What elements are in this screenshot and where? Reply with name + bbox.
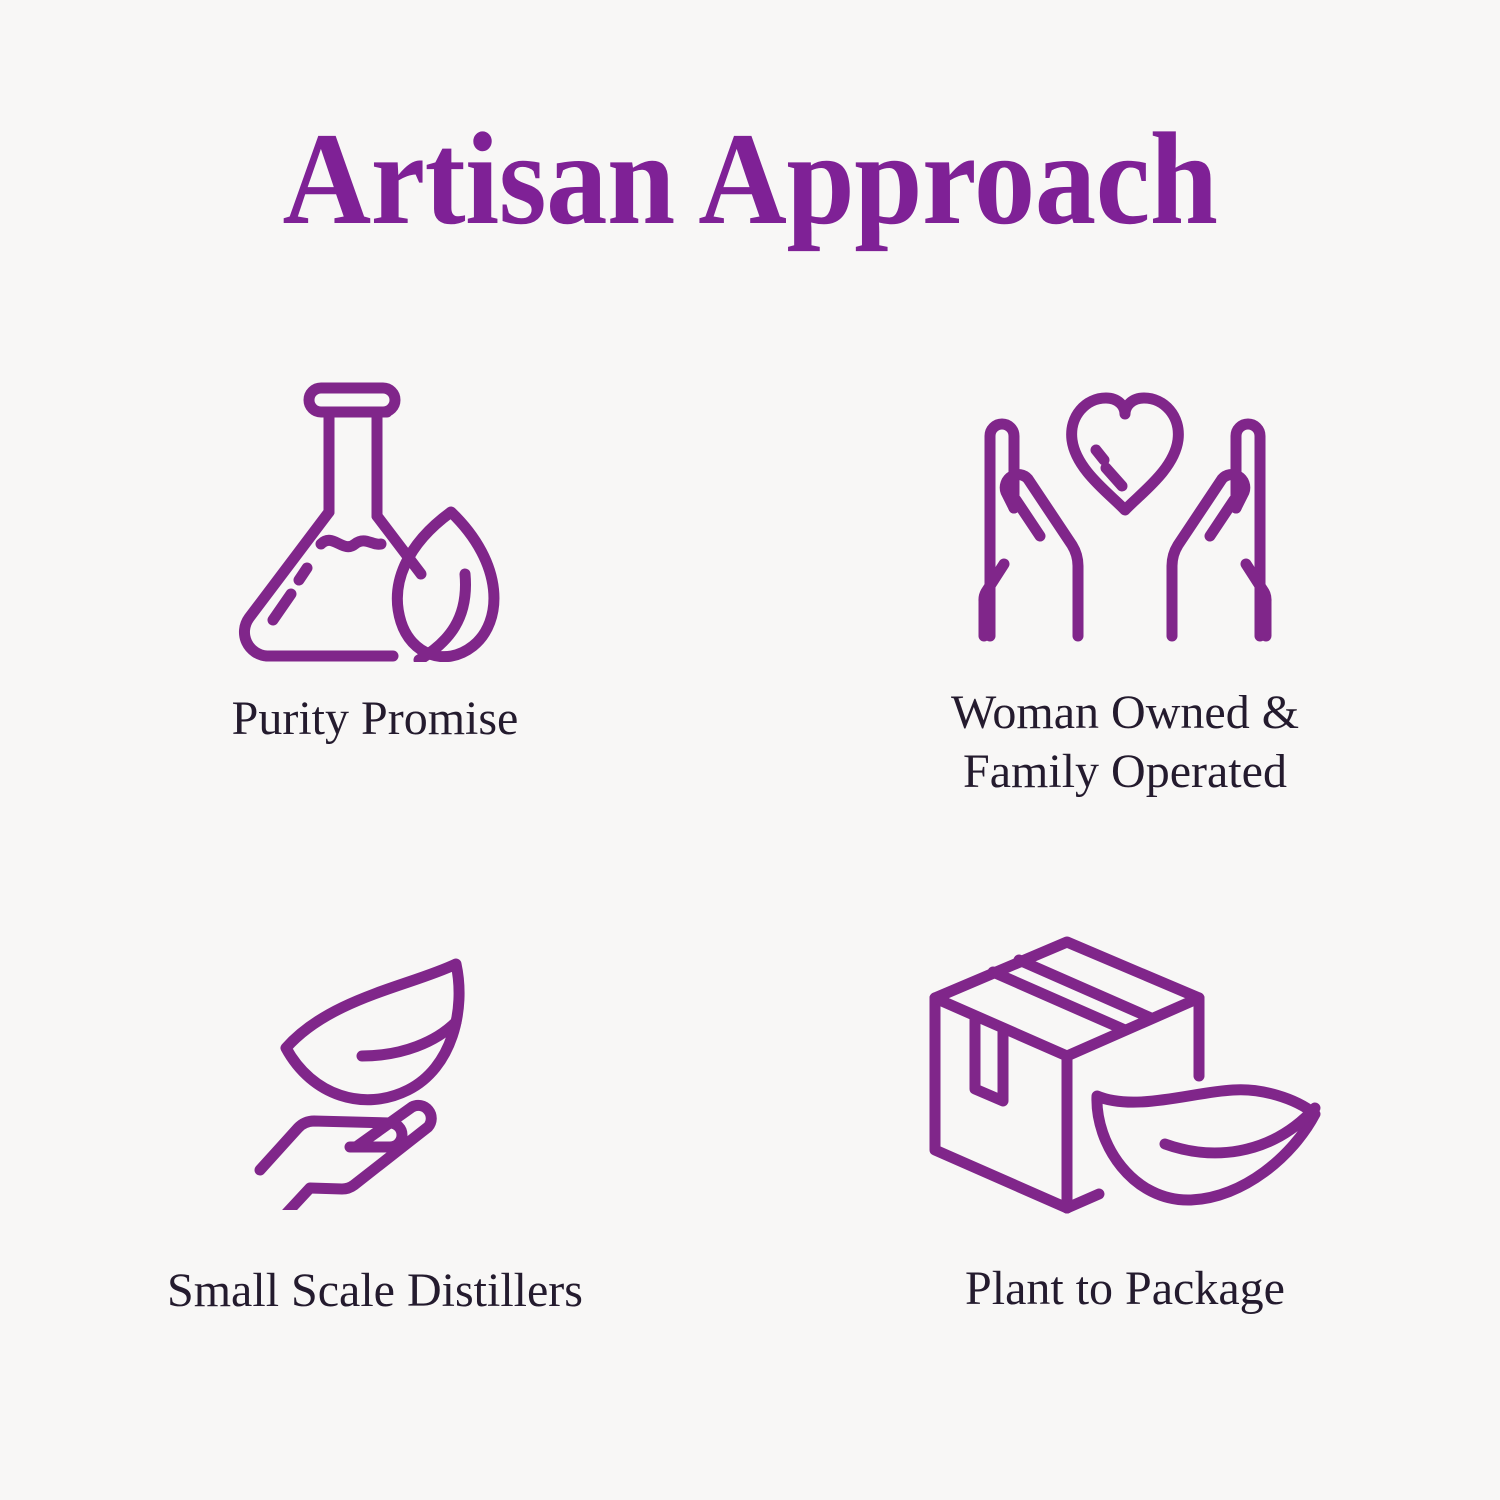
box-leaf-icon — [915, 930, 1335, 1220]
feature-item-purity-promise: Purity Promise — [0, 352, 750, 882]
feature-item-plant-to-package: Plant to Package — [750, 882, 1500, 1412]
leaf-in-hand-icon — [250, 940, 500, 1210]
feature-label: Woman Owned & Family Operated — [951, 684, 1299, 801]
feature-item-woman-owned: Woman Owned & Family Operated — [750, 352, 1500, 882]
page-title-wrap: Artisan Approach — [0, 108, 1500, 251]
feature-grid: Purity Promise — [0, 352, 1500, 1412]
feature-label: Plant to Package — [965, 1260, 1285, 1319]
feature-label: Purity Promise — [232, 690, 519, 749]
flask-leaf-icon — [225, 362, 525, 662]
page-title: Artisan Approach — [53, 108, 1448, 251]
hands-heart-icon — [960, 374, 1290, 654]
artisan-approach-panel: Artisan Approach — [0, 0, 1500, 1500]
feature-item-small-scale-distillers: Small Scale Distillers — [0, 882, 750, 1412]
feature-label: Small Scale Distillers — [167, 1262, 583, 1321]
